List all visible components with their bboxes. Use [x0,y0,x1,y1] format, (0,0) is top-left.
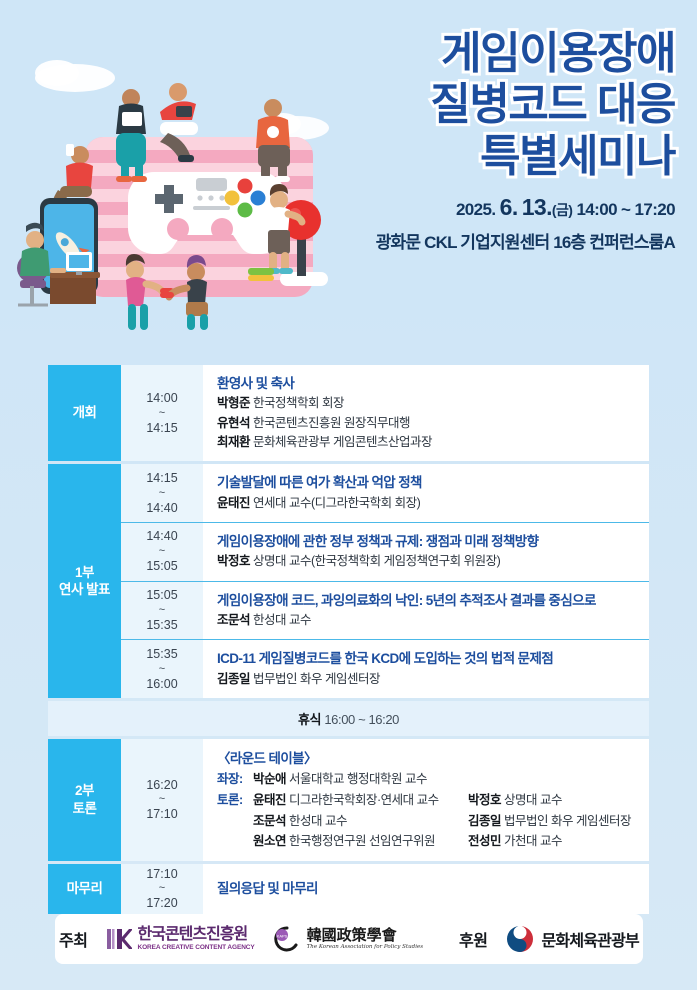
person-name: 박형준 [217,396,250,410]
time-end: 17:10 [146,806,177,823]
time-start: 15:05 [146,587,177,604]
row-time: 15:35 ~ 16:00 [121,640,203,698]
person-affiliation: 상명대 교수(한국정책학회 게임정책연구회 위원장) [253,554,500,568]
hero-illustration [0,0,340,330]
sponsor-footer: 주최 한국콘텐츠진흥원 KOREA CREATIVE CONTENT AGENC… [55,914,643,964]
time-start: 14:15 [146,470,177,487]
row-topic: 기술발달에 따른 여가 확산과 억압 정책 [217,473,649,493]
time-end: 17:20 [146,895,177,912]
time-tilde: ~ [159,488,165,499]
person-name: 조문석 [217,613,250,627]
panel-line: 토론: 윤태진 디그라한국학회장·연세대 교수 박정호 상명대 교수 [217,790,649,811]
table-row: 15:05 ~ 15:35 게임이용장애 코드, 과잉의료화의 낙인: 5년의 … [121,581,649,640]
person-name: 박순애 [253,772,286,786]
kaps-text: 韓國政策學會 The Korean Association for Policy… [307,928,423,951]
org-kaps: KAPS 韓國政策學會 The Korean Association for P… [273,925,423,953]
kocca-text: 한국콘텐츠진흥원 KOREA CREATIVE CONTENT AGENCY [138,927,255,952]
row-time: 15:05 ~ 15:35 [121,582,203,640]
person-affiliation: 법무법인 화우 게임센터장 [504,814,631,828]
person-name: 유현석 [217,416,250,430]
chair-entry: 박순애 서울대학교 행정대학원 교수 [253,769,427,790]
row-time: 14:40 ~ 15:05 [121,523,203,581]
row-topic: 게임이용장애에 관한 정부 정책과 규제: 쟁점과 미래 정책방향 [217,532,649,552]
table-row: 16:20 ~ 17:10 〈라운드 테이블〉 좌장: 박순애 서울대학교 행정… [121,739,649,861]
section-category-label: 2부 토론 [48,739,121,861]
row-body: 질의응답 및 마무리 [203,864,649,914]
date-day: 13. [522,194,552,220]
person-name: 윤태진 [253,793,286,807]
person-name: 최재환 [217,435,250,449]
table-row: 14:15 ~ 14:40 기술발달에 따른 여가 확산과 억압 정책 윤태진 … [121,464,649,522]
kocca-name-en: KOREA CREATIVE CONTENT AGENCY [138,945,255,952]
org-kocca: 한국콘텐츠진흥원 KOREA CREATIVE CONTENT AGENCY [106,926,255,952]
panel-role-spacer [217,811,253,832]
person-affiliation: 가천대 교수 [504,834,562,848]
row-body: 〈라운드 테이블〉 좌장: 박순애 서울대학교 행정대학원 교수 토론: 윤태진… [203,739,649,861]
event-datetime: 2025. 6. 13.(금) 14:00 ~ 17:20 [305,194,675,221]
person-name: 김종일 [217,672,250,686]
schedule-section-closing: 마무리 17:10 ~ 17:20 질의응답 및 마무리 [48,864,649,914]
time-tilde: ~ [159,546,165,557]
row-body: 기술발달에 따른 여가 확산과 억압 정책 윤태진 연세대 교수(디그라한국학회… [203,464,649,522]
row-topic: 질의응답 및 마무리 [217,879,649,899]
row-person: 유현석 한국콘텐츠진흥원 원장직무대행 [217,414,649,433]
table-row: 17:10 ~ 17:20 질의응답 및 마무리 [121,864,649,914]
break-label: 휴식 [298,712,321,727]
time-end: 14:15 [146,420,177,437]
row-time: 16:20 ~ 17:10 [121,739,203,861]
person-name: 원소연 [253,834,286,848]
person-affiliation: 한국행정연구원 선임연구위원 [289,834,435,848]
time-start: 15:35 [146,646,177,663]
time-end: 15:35 [146,617,177,634]
person-affiliation: 한성대 교수 [289,814,347,828]
poster-root: 게임이용장애 질병코드 대응 특별세미나 2025. 6. 13.(금) 14:… [0,0,697,990]
schedule-section-opening: 개회 14:00 ~ 14:15 환영사 및 축사 박형준 한국정책학회 회장 … [48,365,649,461]
section-category-label: 개회 [48,365,121,461]
title-line-1: 게임이용장애 [305,28,675,79]
person-name: 김종일 [468,814,501,828]
section-category-label: 마무리 [48,864,121,914]
person-affiliation: 문화체육관광부 게임콘텐츠산업과장 [253,435,432,449]
date-year: 2025. [456,200,496,219]
person-affiliation: 연세대 교수(디그라한국학회 회장) [253,496,420,510]
row-person: 박형준 한국정책학회 회장 [217,394,649,413]
table-row: 14:00 ~ 14:15 환영사 및 축사 박형준 한국정책학회 회장 유현석… [121,365,649,461]
panelist-entry: 김종일 법무법인 화우 게임센터장 [468,811,649,832]
roundtable-title: 〈라운드 테이블〉 [217,748,649,770]
person-name: 박정호 [468,793,501,807]
time-tilde: ~ [159,883,165,894]
title-line-2: 질병코드 대응 [305,79,675,130]
time-start: 14:00 [146,390,177,407]
row-topic: 게임이용장애 코드, 과잉의료화의 낙인: 5년의 추적조사 결과를 중심으로 [217,591,649,611]
schedule-table: 개회 14:00 ~ 14:15 환영사 및 축사 박형준 한국정책학회 회장 … [48,365,649,917]
mcst-name: 문화체육관광부 [541,927,638,951]
category-line-1: 1부 [59,564,110,582]
time-tilde: ~ [159,408,165,419]
time-start: 17:10 [146,866,177,883]
row-time: 14:15 ~ 14:40 [121,464,203,522]
host-label: 주최 [59,927,87,951]
row-person: 조문석 한성대 교수 [217,611,649,630]
schedule-section-part2: 2부 토론 16:20 ~ 17:10 〈라운드 테이블〉 좌장: 박순 [48,739,649,861]
category-line-2: 연사 발표 [59,581,110,599]
panel-line: 원소연 한국행정연구원 선임연구위원 전성민 가천대 교수 [217,831,649,852]
section-category-label: 1부 연사 발표 [48,464,121,698]
panelist-entry: 윤태진 디그라한국학회장·연세대 교수 [253,790,468,811]
category-line-1: 2부 [73,782,97,800]
date-weekday: (금) [552,202,572,218]
table-row: 14:40 ~ 15:05 게임이용장애에 관한 정부 정책과 규제: 쟁점과 … [121,522,649,581]
chair-line: 좌장: 박순애 서울대학교 행정대학원 교수 [217,769,649,790]
person-affiliation: 한국콘텐츠진흥원 원장직무대행 [253,416,410,430]
event-venue: 광화문 CKL 기업지원센터 16층 컨퍼런스룸A [305,228,675,253]
title-line-3: 특별세미나 [305,131,675,182]
row-person: 최재환 문화체육관광부 게임콘텐츠산업과장 [217,433,649,452]
break-row: 휴식 16:00 ~ 16:20 [48,701,649,736]
person-affiliation: 상명대 교수 [504,793,562,807]
person-name: 박정호 [217,554,250,568]
table-row: 15:35 ~ 16:00 ICD-11 게임질병코드를 한국 KCD에 도입하… [121,639,649,698]
person-affiliation: 서울대학교 행정대학원 교수 [289,772,427,786]
kocca-name-kr: 한국콘텐츠진흥원 [138,927,255,943]
panelist-entry: 원소연 한국행정연구원 선임연구위원 [253,831,468,852]
person-name: 윤태진 [217,496,250,510]
row-person: 윤태진 연세대 교수(디그라한국학회 회장) [217,494,649,513]
kocca-logo-icon [106,926,132,952]
svg-text:KAPS: KAPS [276,934,287,939]
panelist-entry: 박정호 상명대 교수 [468,790,649,811]
date-time-range: 14:00 ~ 17:20 [576,200,675,219]
person-name: 조문석 [253,814,286,828]
time-end: 15:05 [146,558,177,575]
illustration-svg [0,0,340,330]
row-person: 박정호 상명대 교수(한국정책학회 게임정책연구회 위원장) [217,552,649,571]
row-topic: 환영사 및 축사 [217,374,649,394]
row-body: 게임이용장애 코드, 과잉의료화의 낙인: 5년의 추적조사 결과를 중심으로 … [203,582,649,640]
time-tilde: ~ [159,794,165,805]
panel-role: 토론: [217,790,253,811]
person-name: 전성민 [468,834,501,848]
panelist-entry: 조문석 한성대 교수 [253,811,468,832]
row-body: 게임이용장애에 관한 정부 정책과 규제: 쟁점과 미래 정책방향 박정호 상명… [203,523,649,581]
break-time: 16:00 ~ 16:20 [324,712,399,727]
panelist-entry: 전성민 가천대 교수 [468,831,649,852]
kaps-logo-icon: KAPS [273,925,301,953]
person-affiliation: 한성대 교수 [253,613,311,627]
person-affiliation: 디그라한국학회장·연세대 교수 [289,793,439,807]
time-tilde: ~ [159,605,165,616]
date-month: 6. [500,194,518,220]
person-affiliation: 한국정책학회 회장 [253,396,344,410]
row-body: ICD-11 게임질병코드를 한국 KCD에 도입하는 것의 법적 문제점 김종… [203,640,649,698]
time-end: 14:40 [146,500,177,517]
panel-role-spacer [217,831,253,852]
time-start: 16:20 [146,777,177,794]
sponsor-label: 후원 [459,927,487,951]
row-time: 17:10 ~ 17:20 [121,864,203,914]
chair-role: 좌장: [217,769,253,790]
poster-header: 게임이용장애 질병코드 대응 특별세미나 2025. 6. 13.(금) 14:… [305,28,675,253]
row-body: 환영사 및 축사 박형준 한국정책학회 회장 유현석 한국콘텐츠진흥원 원장직무… [203,365,649,461]
row-person: 김종일 법무법인 화우 게임센터장 [217,670,649,689]
org-mcst: 문화체육관광부 [505,924,638,954]
row-topic: ICD-11 게임질병코드를 한국 KCD에 도입하는 것의 법적 문제점 [217,649,649,669]
taegeuk-icon [505,924,535,954]
row-time: 14:00 ~ 14:15 [121,365,203,461]
panel-line: 조문석 한성대 교수 김종일 법무법인 화우 게임센터장 [217,811,649,832]
kaps-name-en: The Korean Association for Policy Studie… [307,945,423,951]
kaps-name-kr: 韓國政策學會 [307,928,423,943]
schedule-section-part1: 1부 연사 발표 14:15 ~ 14:40 기술발달에 따른 여가 확산과 억… [48,464,649,698]
time-tilde: ~ [159,664,165,675]
category-line-2: 토론 [73,800,97,818]
time-start: 14:40 [146,528,177,545]
person-affiliation: 법무법인 화우 게임센터장 [253,672,380,686]
time-end: 16:00 [146,676,177,693]
